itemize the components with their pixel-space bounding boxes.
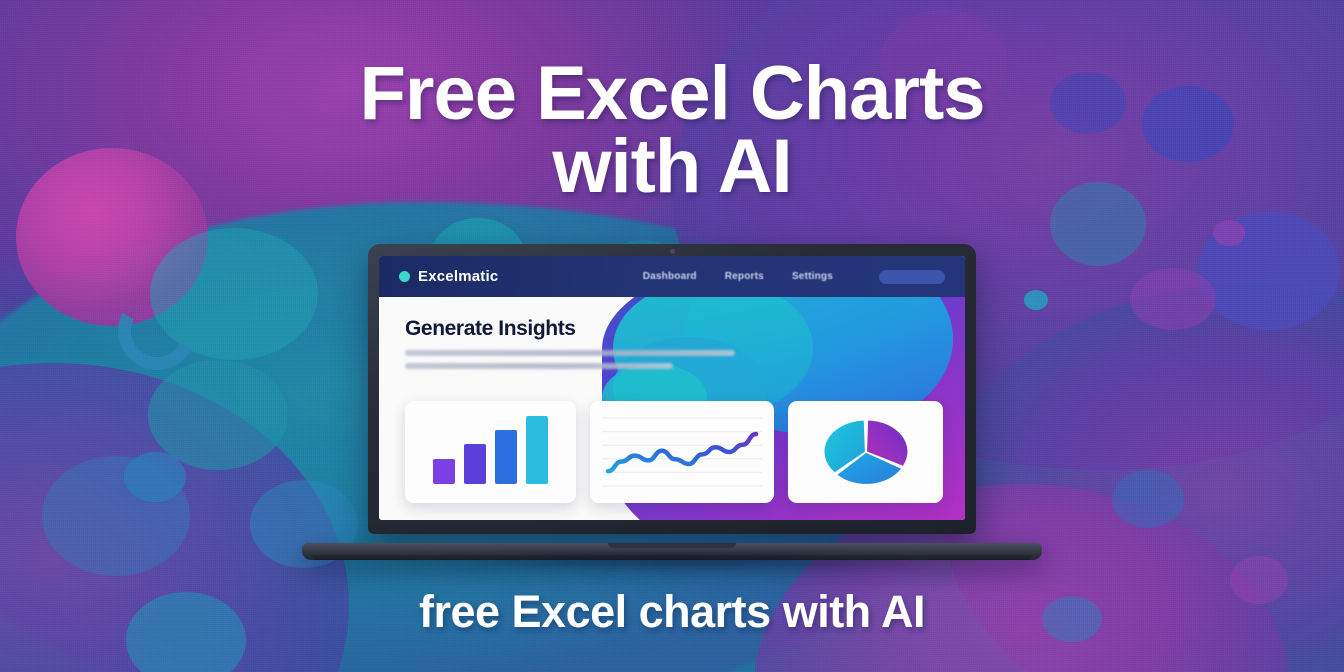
decor-ellipse-purple-3 [1130, 268, 1216, 330]
banner-headline: Free Excel Charts with AI [0, 58, 1344, 204]
decor-ellipse-teal-2 [148, 360, 288, 470]
page-title: Generate Insights [405, 317, 939, 341]
line-chart-gridlines [602, 418, 762, 486]
app-nav-links: Dashboard Reports Settings [643, 270, 945, 284]
decor-ellipse-blue-2 [42, 456, 190, 576]
nav-item-settings[interactable]: Settings [792, 271, 833, 282]
decor-ellipse-blue-5 [1112, 470, 1184, 528]
line-chart [600, 412, 764, 492]
brand-name-label: Excelmatic [418, 268, 498, 285]
line-chart-card[interactable] [590, 401, 775, 503]
brand-dot-icon [399, 271, 410, 282]
pie-chart-svg [823, 419, 909, 485]
line-chart-svg [600, 412, 764, 492]
laptop-mockup: Excelmatic Dashboard Reports Settings [302, 244, 1042, 560]
laptop-shadow [292, 550, 1052, 576]
bar-1 [433, 459, 455, 484]
bar-chart [433, 416, 548, 488]
bar-3 [495, 430, 517, 484]
laptop-lid: Excelmatic Dashboard Reports Settings [368, 244, 976, 534]
body-text-line-2 [405, 363, 673, 369]
pie-chart-card[interactable] [788, 401, 943, 503]
banner-canvas: Free Excel Charts with AI Excelmatic Das… [0, 0, 1344, 672]
banner-caption: free Excel charts with AI [0, 586, 1344, 638]
chart-card-row [405, 401, 943, 503]
body-text-line-1 [405, 350, 735, 356]
nav-item-reports[interactable]: Reports [725, 271, 764, 282]
nav-cta-button[interactable] [879, 270, 945, 284]
line-chart-path [608, 434, 756, 471]
pie-slice-group [824, 421, 907, 484]
webcam-icon [670, 249, 675, 254]
app-navbar: Excelmatic Dashboard Reports Settings [379, 256, 965, 297]
app-body: Generate Insights [379, 297, 965, 520]
nav-item-dashboard[interactable]: Dashboard [643, 271, 697, 282]
laptop-screen: Excelmatic Dashboard Reports Settings [379, 256, 965, 520]
app-content-header: Generate Insights [379, 297, 965, 369]
bar-4 [526, 416, 548, 484]
bar-2 [464, 444, 486, 484]
headline-line-2: with AI [0, 131, 1344, 204]
app-brand[interactable]: Excelmatic [399, 268, 498, 285]
bar-chart-card[interactable] [405, 401, 576, 503]
decor-ellipse-purple-2 [1213, 220, 1245, 246]
pie-chart [823, 419, 909, 485]
